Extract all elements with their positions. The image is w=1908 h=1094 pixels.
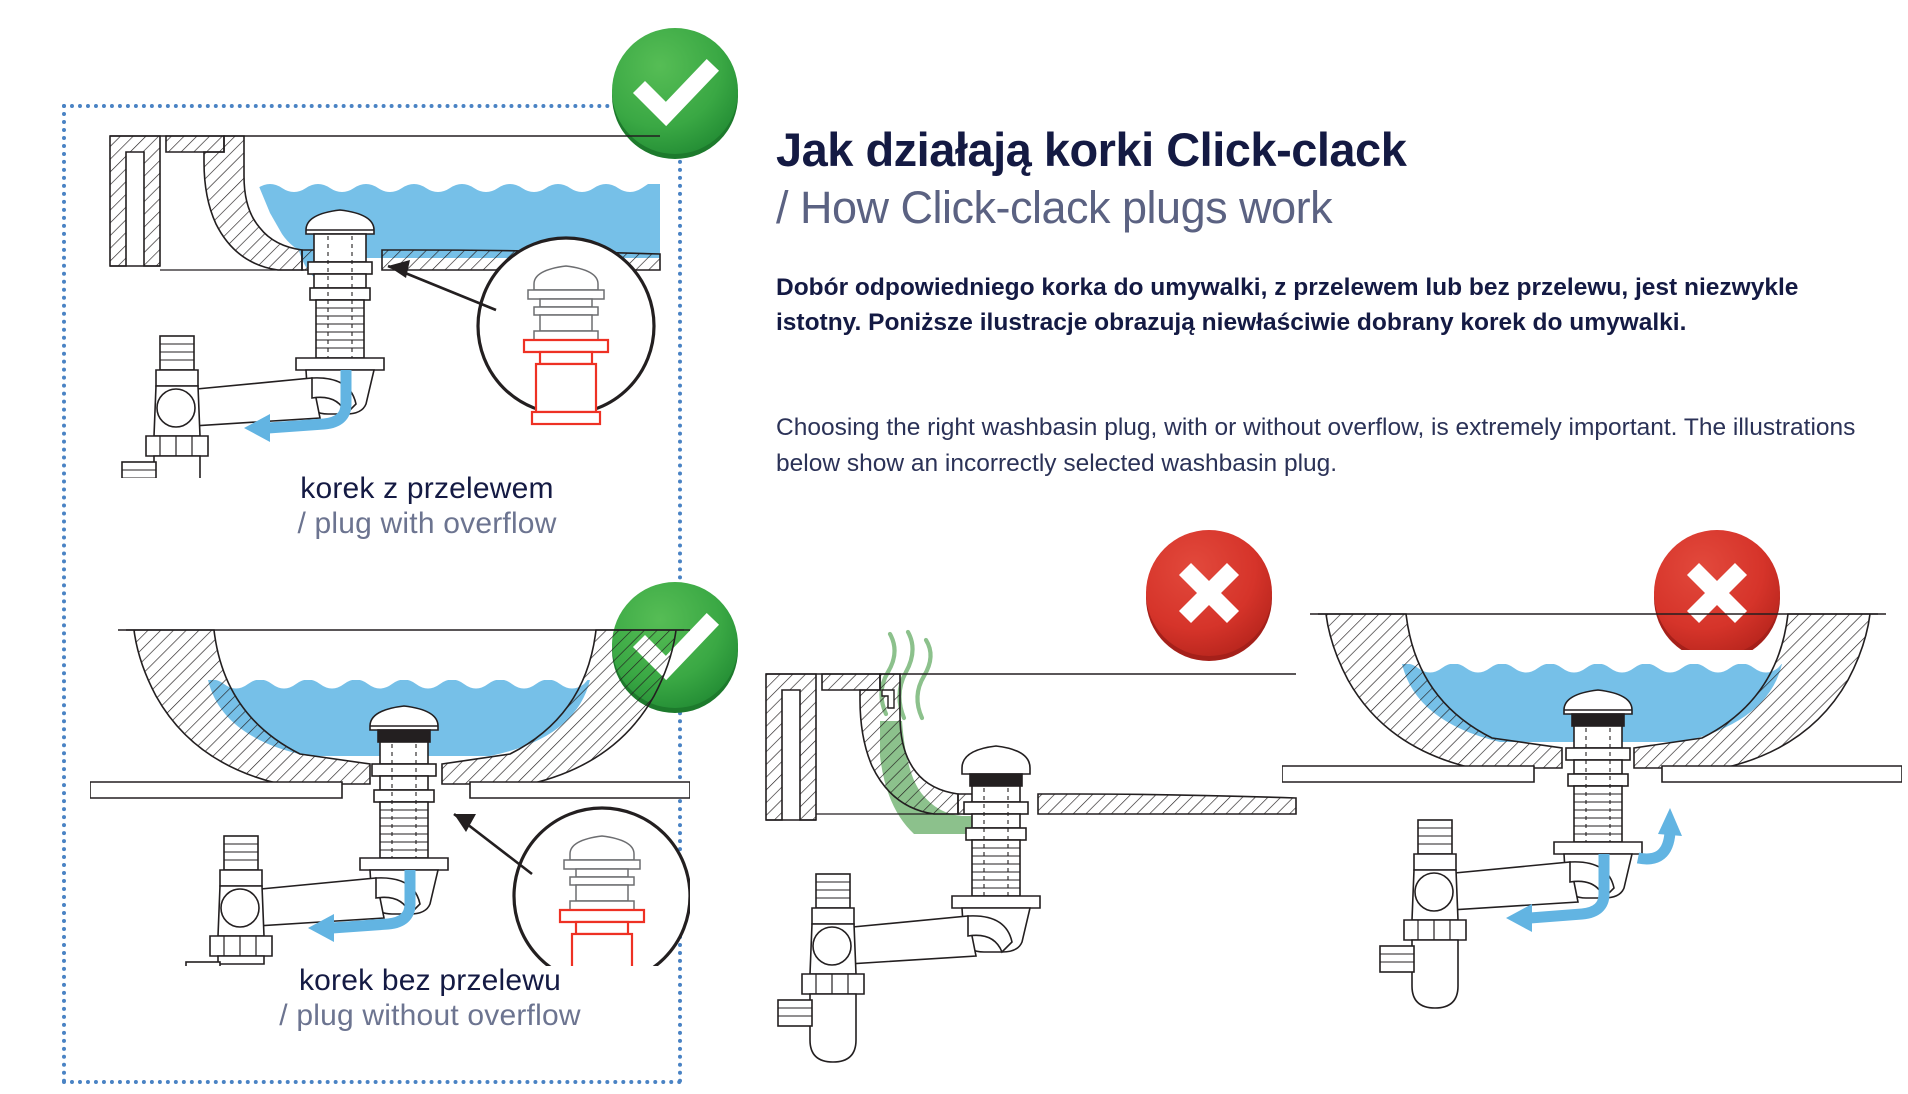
caption-en: / plug with overflow <box>262 507 592 542</box>
caption-pl: korek z przelewem <box>262 472 592 507</box>
plug-detail-inset <box>478 238 654 424</box>
caption-en: / plug without overflow <box>250 999 610 1034</box>
intro-paragraph-pl: Dobór odpowiedniego korka do umywalki, z… <box>776 270 1866 340</box>
caption-plug-without-overflow: korek bez przelewu / plug without overfl… <box>250 964 610 1034</box>
wrong-basin-without-overflow-diagram <box>1282 596 1902 1076</box>
infographic-canvas: Jak działają korki Click-clack / How Cli… <box>0 0 1908 1094</box>
basin-with-overflow-diagram <box>100 118 680 478</box>
figure-wrong-no-overflow-basin <box>1282 596 1902 1076</box>
intro-paragraph-en: Choosing the right washbasin plug, with … <box>776 410 1866 482</box>
plug-detail-inset <box>514 808 690 966</box>
wrong-basin-with-overflow-diagram <box>756 596 1316 1076</box>
figure-wrong-overflow-basin <box>756 596 1316 1076</box>
caption-plug-with-overflow: korek z przelewem / plug with overflow <box>262 472 592 542</box>
page-title-pl: Jak działają korki Click-clack <box>776 122 1406 177</box>
figure-plug-with-overflow <box>100 118 680 478</box>
caption-pl: korek bez przelewu <box>250 964 610 999</box>
figure-plug-without-overflow <box>90 586 690 966</box>
basin-section <box>766 674 1296 820</box>
detail-leader-line <box>454 814 532 874</box>
page-title-en: / How Click-clack plugs work <box>776 182 1332 234</box>
basin-without-overflow-diagram <box>90 586 690 966</box>
